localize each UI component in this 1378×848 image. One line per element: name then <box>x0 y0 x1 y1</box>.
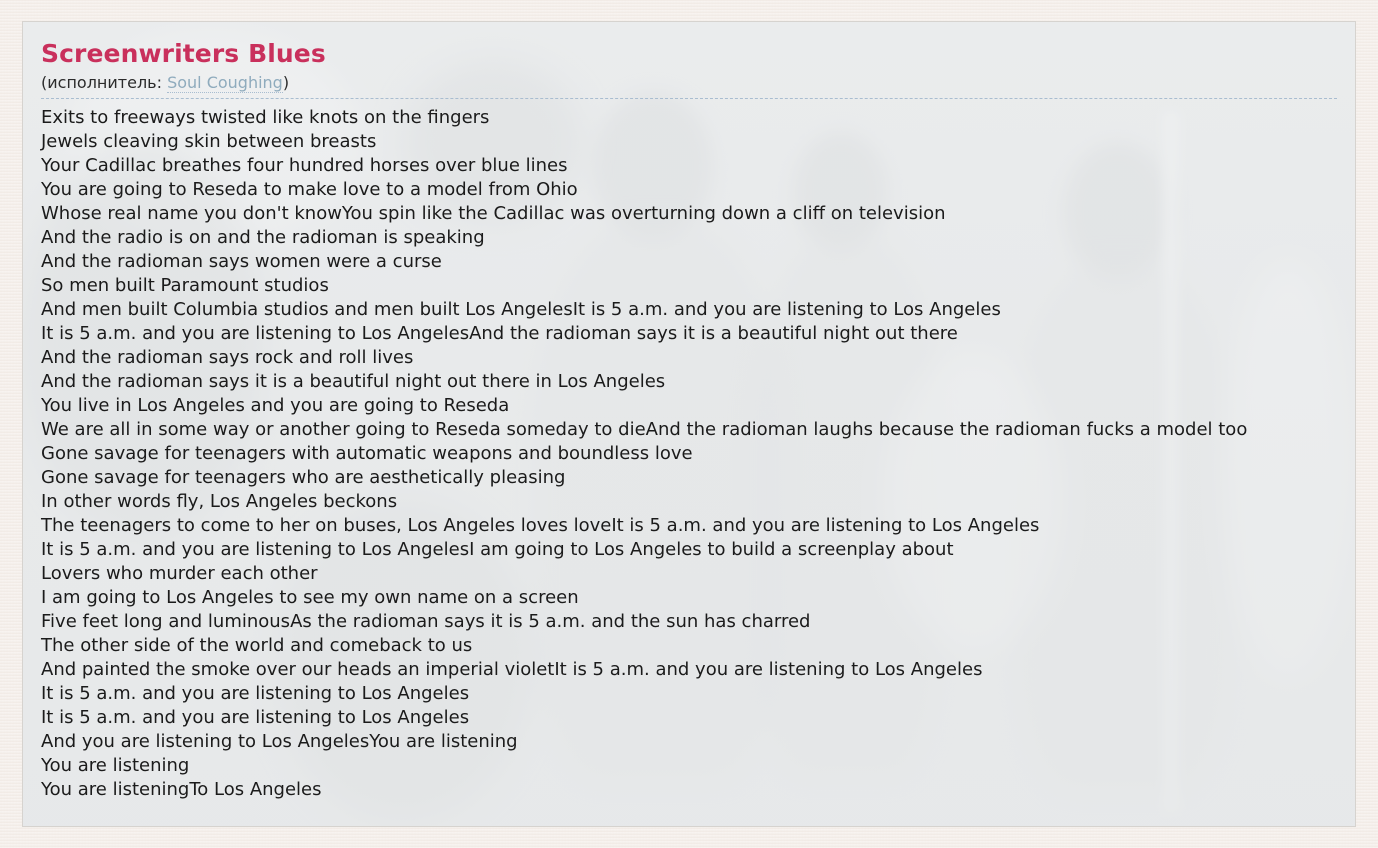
page-title: Screenwriters Blues <box>41 41 1337 68</box>
lyric-line: And you are listening to Los AngelesYou … <box>41 730 1355 754</box>
lyric-line: It is 5 a.m. and you are listening to Lo… <box>41 538 1355 562</box>
song-header: Screenwriters Blues (исполнитель: Soul C… <box>23 22 1355 99</box>
lyric-line: You live in Los Angeles and you are goin… <box>41 394 1355 418</box>
lyric-line: In other words fly, Los Angeles beckons <box>41 490 1355 514</box>
lyric-line: Jewels cleaving skin between breasts <box>41 130 1355 154</box>
lyric-line: The other side of the world and comeback… <box>41 634 1355 658</box>
lyric-line: And the radioman says it is a beautiful … <box>41 370 1355 394</box>
lyric-line: And the radioman says women were a curse <box>41 250 1355 274</box>
lyric-line: Your Cadillac breathes four hundred hors… <box>41 154 1355 178</box>
lyric-line: Exits to freeways twisted like knots on … <box>41 106 1355 130</box>
lyrics-card: Screenwriters Blues (исполнитель: Soul C… <box>22 21 1356 827</box>
lyric-line: We are all in some way or another going … <box>41 418 1355 442</box>
lyric-line: I am going to Los Angeles to see my own … <box>41 586 1355 610</box>
lyric-line: You are listening <box>41 754 1355 778</box>
lyric-line: It is 5 a.m. and you are listening to Lo… <box>41 322 1355 346</box>
artist-prefix-label: (исполнитель: <box>41 73 167 92</box>
lyric-line: Lovers who murder each other <box>41 562 1355 586</box>
lyric-line: And men built Columbia studios and men b… <box>41 298 1355 322</box>
lyric-line: Five feet long and luminousAs the radiom… <box>41 610 1355 634</box>
artist-line: (исполнитель: Soul Coughing) <box>41 73 1337 99</box>
artist-link[interactable]: Soul Coughing <box>167 73 283 93</box>
lyric-line: And painted the smoke over our heads an … <box>41 658 1355 682</box>
lyric-line: It is 5 a.m. and you are listening to Lo… <box>41 706 1355 730</box>
lyric-line: Whose real name you don't knowYou spin l… <box>41 202 1355 226</box>
lyric-line: The teenagers to come to her on buses, L… <box>41 514 1355 538</box>
lyric-line: You are listeningTo Los Angeles <box>41 778 1355 802</box>
lyric-line: It is 5 a.m. and you are listening to Lo… <box>41 682 1355 706</box>
lyric-line: Gone savage for teenagers who are aesthe… <box>41 466 1355 490</box>
lyric-line: So men built Paramount studios <box>41 274 1355 298</box>
lyric-line: Gone savage for teenagers with automatic… <box>41 442 1355 466</box>
artist-suffix-label: ) <box>283 73 289 92</box>
lyrics-body: Exits to freeways twisted like knots on … <box>23 99 1355 802</box>
page-frame: Screenwriters Blues (исполнитель: Soul C… <box>0 0 1378 848</box>
lyric-line: And the radio is on and the radioman is … <box>41 226 1355 250</box>
lyric-line: You are going to Reseda to make love to … <box>41 178 1355 202</box>
lyric-line: And the radioman says rock and roll live… <box>41 346 1355 370</box>
